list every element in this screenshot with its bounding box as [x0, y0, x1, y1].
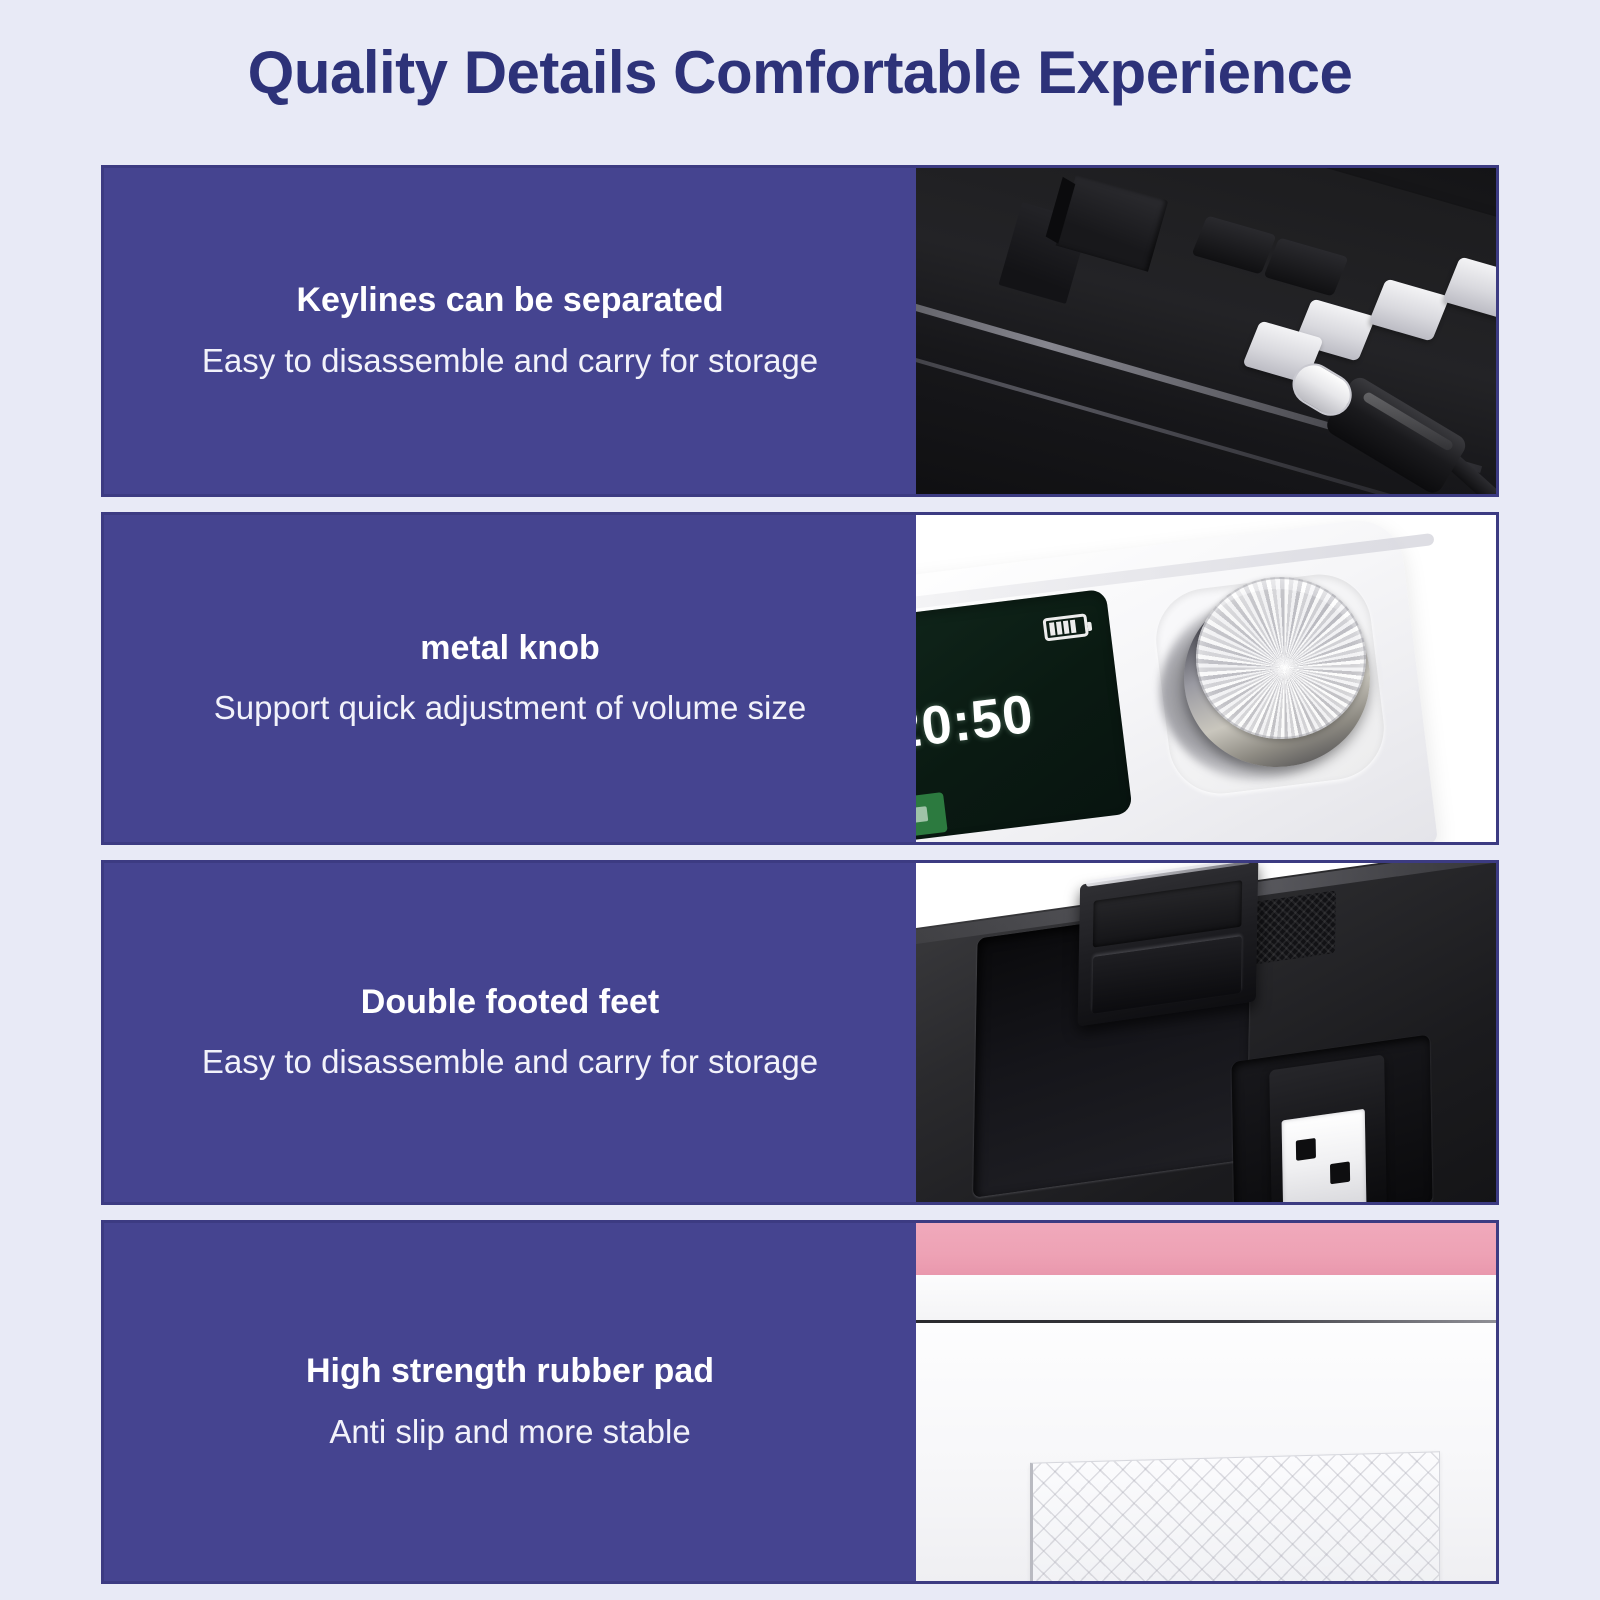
page-title: Quality Details Comfortable Experience	[0, 38, 1600, 107]
double-foot-usb-dongle-photo	[916, 863, 1496, 1202]
rubber-pad	[1030, 1451, 1440, 1581]
battery-full-icon	[1042, 613, 1088, 641]
feature-subline: Easy to disassemble and carry for storag…	[202, 1041, 818, 1084]
feature-panel-rubber-pad: High strength rubber pad Anti slip and m…	[101, 1220, 1499, 1584]
pink-trim-strip	[916, 1223, 1496, 1275]
metal-knob-photo: 2 20:50	[916, 515, 1496, 842]
screen-time: 20:50	[916, 683, 1037, 762]
screen-badge	[916, 792, 948, 839]
feature-panel-list: Keylines can be separated Easy to disass…	[101, 165, 1499, 1584]
feature-text-block: High strength rubber pad Anti slip and m…	[104, 1223, 916, 1581]
feature-panel-double-foot: Double footed feet Easy to disassemble a…	[101, 860, 1499, 1205]
keyboard-edge-usbc-photo	[916, 168, 1496, 494]
seam-line	[916, 1320, 1496, 1323]
metal-knob-icon	[1196, 577, 1366, 739]
feature-text-block: Double footed feet Easy to disassemble a…	[104, 863, 916, 1202]
feature-headline: Keylines can be separated	[296, 279, 723, 322]
infographic-page: Quality Details Comfortable Experience K…	[0, 0, 1600, 1600]
feature-panel-keylines: Keylines can be separated Easy to disass…	[101, 165, 1499, 497]
device-screen: 2 20:50	[916, 589, 1133, 842]
textured-grip-patch	[1246, 890, 1336, 965]
feature-text-block: Keylines can be separated Easy to disass…	[104, 168, 916, 494]
feature-panel-metal-knob: metal knob Support quick adjustment of v…	[101, 512, 1499, 845]
feature-headline: High strength rubber pad	[306, 1350, 714, 1393]
feature-subline: Support quick adjustment of volume size	[214, 687, 806, 730]
feature-subline: Easy to disassemble and carry for storag…	[202, 340, 818, 383]
feature-subline: Anti slip and more stable	[329, 1411, 690, 1454]
feature-headline: metal knob	[420, 627, 599, 670]
feature-headline: Double footed feet	[361, 981, 659, 1024]
feature-text-block: metal knob Support quick adjustment of v…	[104, 515, 916, 842]
white-trim-band	[916, 1275, 1496, 1321]
usb-dongle-metal-tip	[1282, 1109, 1367, 1202]
rubber-pad-photo	[916, 1223, 1496, 1581]
